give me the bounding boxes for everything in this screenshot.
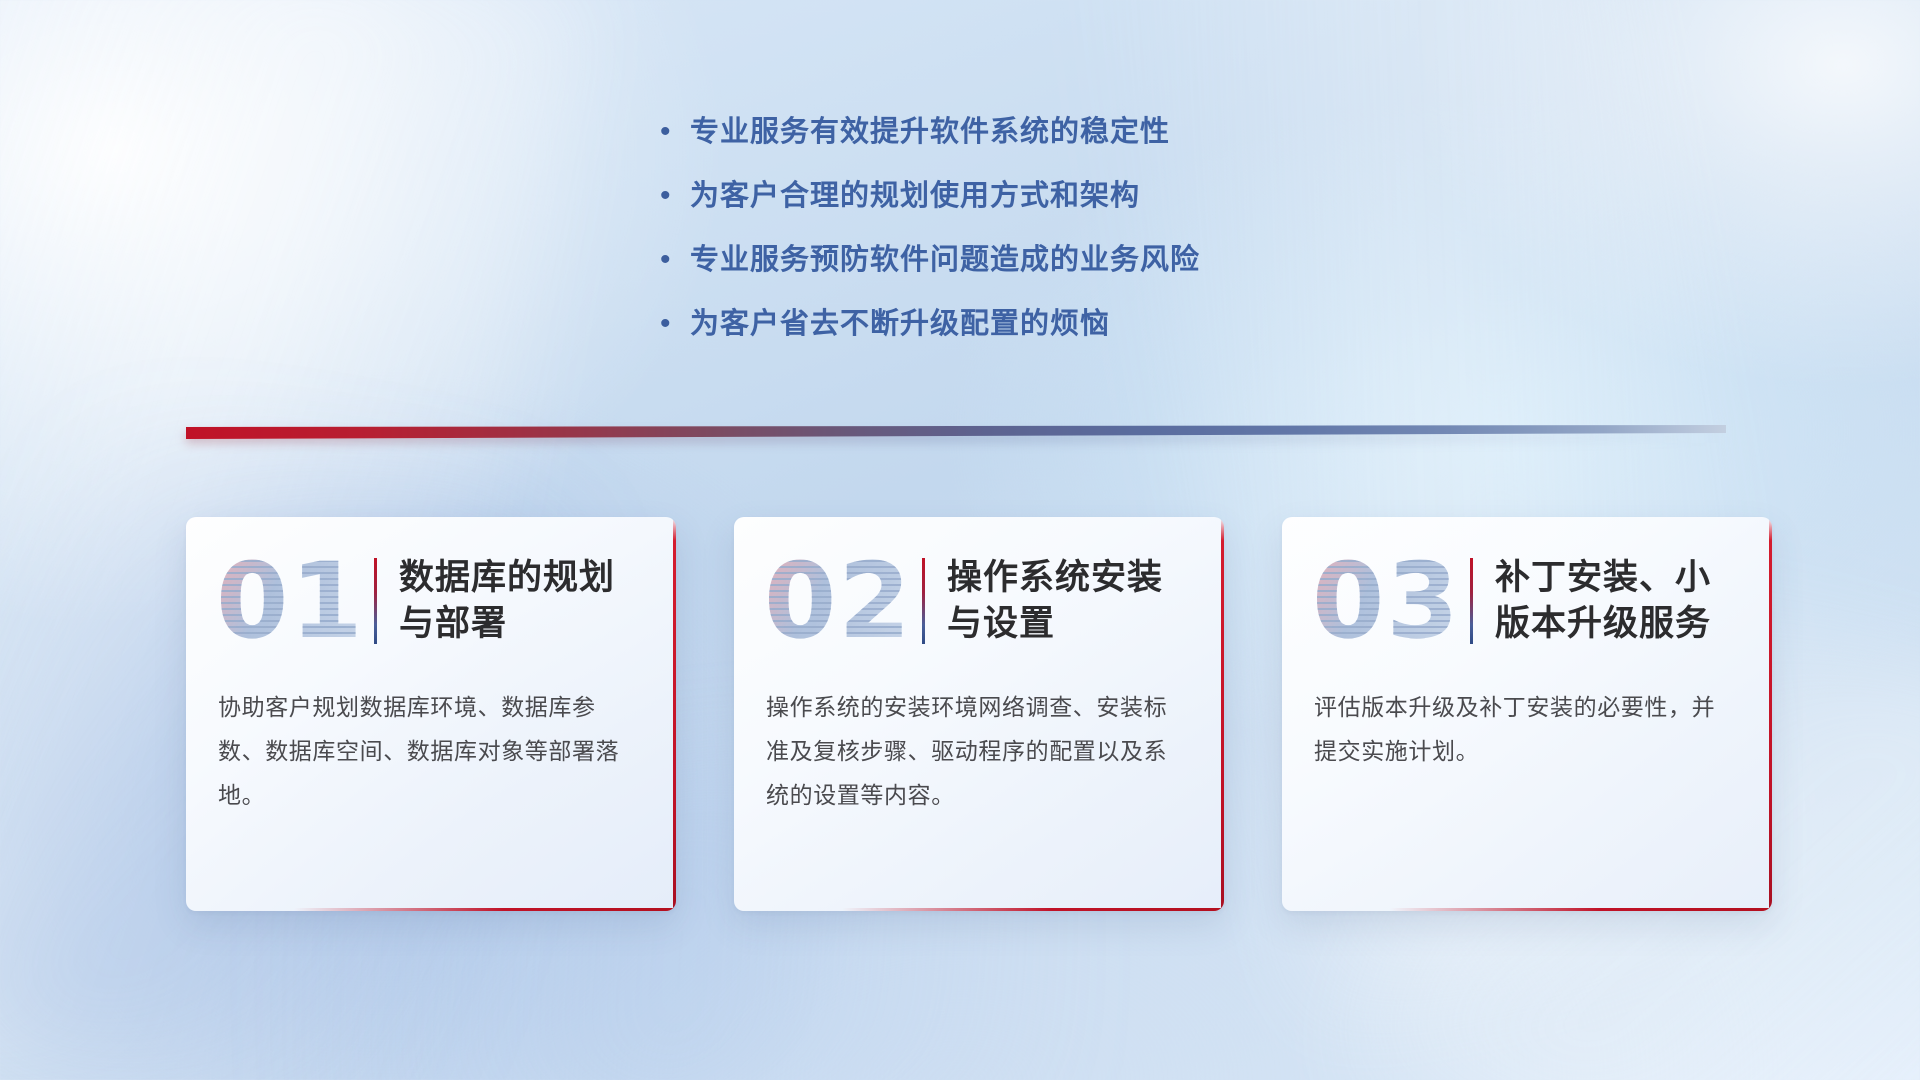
bullet-text: 为客户合理的规划使用方式和架构 [690,174,1140,218]
card-accent-edge [1390,908,1772,911]
list-item: • 为客户合理的规划使用方式和架构 [660,174,1440,220]
list-item: • 为客户省去不断升级配置的烦恼 [660,302,1440,348]
card-body-text: 协助客户规划数据库环境、数据库参数、数据库空间、数据库对象等部署落地。 [186,685,676,817]
bullet-text: 为客户省去不断升级配置的烦恼 [690,302,1110,346]
list-item: • 专业服务预防软件问题造成的业务风险 [660,238,1440,284]
bullet-dot-icon: • [660,238,690,282]
card-number: 02 [764,542,916,660]
section-divider [186,425,1726,439]
service-card-group: 01 数据库的规划 与部署 协助客户规划数据库环境、数据库参数、数据库空间、数据… [186,517,1774,911]
card-number: 03 [1312,542,1464,660]
bullet-dot-icon: • [660,302,690,346]
card-header: 03 补丁安装、小 版本升级服务 [1282,517,1772,685]
bullet-dot-icon: • [660,110,690,154]
card-header: 01 数据库的规划 与部署 [186,517,676,685]
card-body-text: 操作系统的安装环境网络调查、安装标准及复核步骤、驱动程序的配置以及系统的设置等内… [734,685,1224,817]
card-title: 数据库的规划 与部署 [399,555,615,647]
benefits-bullet-list: • 专业服务有效提升软件系统的稳定性 • 为客户合理的规划使用方式和架构 • 专… [660,110,1440,366]
card-accent-edge [294,908,676,911]
card-divider-line [1470,558,1473,644]
card-title: 操作系统安装 与设置 [947,555,1163,647]
card-divider-line [922,558,925,644]
card-number: 01 [216,542,368,660]
bullet-dot-icon: • [660,174,690,218]
card-header: 02 操作系统安装 与设置 [734,517,1224,685]
card-accent-edge [842,908,1224,911]
card-body-text: 评估版本升级及补丁安装的必要性，并提交实施计划。 [1282,685,1772,773]
bullet-text: 专业服务预防软件问题造成的业务风险 [690,238,1200,282]
card-title: 补丁安装、小 版本升级服务 [1495,555,1711,647]
service-card[interactable]: 03 补丁安装、小 版本升级服务 评估版本升级及补丁安装的必要性，并提交实施计划… [1282,517,1772,911]
list-item: • 专业服务有效提升软件系统的稳定性 [660,110,1440,156]
bullet-text: 专业服务有效提升软件系统的稳定性 [690,110,1170,154]
card-divider-line [374,558,377,644]
service-card[interactable]: 01 数据库的规划 与部署 协助客户规划数据库环境、数据库参数、数据库空间、数据… [186,517,676,911]
service-card[interactable]: 02 操作系统安装 与设置 操作系统的安装环境网络调查、安装标准及复核步骤、驱动… [734,517,1224,911]
